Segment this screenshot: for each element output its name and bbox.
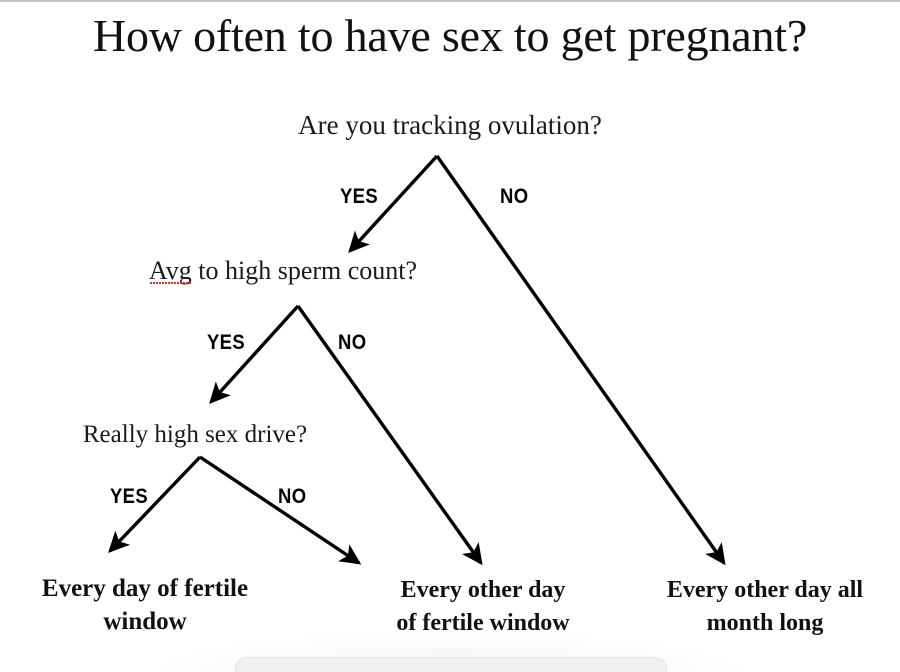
leaf-node-line-2: window <box>10 605 280 638</box>
bottom-overlay-panel <box>235 657 667 672</box>
edge-q2-yes <box>211 306 298 402</box>
edge-label-q3-no: NO <box>278 486 306 507</box>
leaf-node-line-1: Every other day <box>338 574 628 607</box>
slide-canvas: How often to have sex to get pregnant? A… <box>0 0 900 672</box>
edge-label-q2-no: NO <box>338 332 366 353</box>
leaf-node-line-1: Every other day all <box>636 574 894 607</box>
edge-label-q1-no: NO <box>500 186 528 207</box>
question-node-sperm-count: Avg to high sperm count? <box>0 256 566 286</box>
misspelled-word: Avg <box>149 256 192 286</box>
leaf-node-every-other-day-all-month: Every other day all month long <box>636 574 894 640</box>
edge-label-q3-yes: YES <box>110 486 148 507</box>
edge-label-q2-yes: YES <box>207 332 245 353</box>
question-node-tracking-ovulation: Are you tracking ovulation? <box>0 110 900 141</box>
edge-q3-no <box>200 457 359 563</box>
edge-q1-no <box>437 156 724 563</box>
leaf-node-line-1: Every day of fertile <box>10 572 280 605</box>
edge-label-q1-yes: YES <box>340 186 378 207</box>
leaf-node-line-2: of fertile window <box>338 607 628 640</box>
leaf-node-line-2: month long <box>636 607 894 640</box>
question-node-sex-drive: Really high sex drive? <box>0 421 390 449</box>
leaf-node-every-other-day-fertile-window: Every other day of fertile window <box>338 574 628 640</box>
leaf-node-every-day-fertile-window: Every day of fertile window <box>10 572 280 638</box>
question-node-sperm-count-rest: to high sperm count? <box>192 256 417 285</box>
